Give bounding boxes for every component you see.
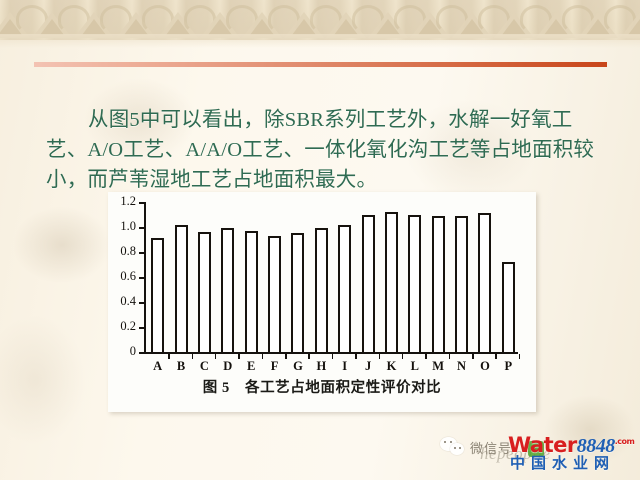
x-axis-tick — [285, 354, 287, 359]
x-axis-label: G — [293, 359, 303, 374]
band-fade — [0, 34, 640, 48]
x-axis-tick — [425, 354, 427, 359]
watermark-brand-cn: 中国水业网 — [510, 452, 615, 473]
x-axis-tick — [168, 354, 170, 359]
x-axis-label: H — [316, 359, 326, 374]
chart-bar — [151, 238, 164, 352]
x-axis-tick — [308, 354, 310, 359]
x-axis-label: N — [457, 359, 466, 374]
x-axis-label: K — [387, 359, 397, 374]
y-axis-label: 1.0 — [120, 219, 136, 234]
figure-caption: 图 5 各工艺占地面积定性评价对比 — [108, 376, 536, 397]
x-axis-label: F — [271, 359, 279, 374]
y-axis-tick — [139, 302, 145, 304]
y-axis-tick — [139, 352, 145, 354]
x-axis-tick — [472, 354, 474, 359]
accent-divider-rule — [34, 62, 607, 67]
chart-bar — [362, 215, 375, 353]
x-axis-label: C — [200, 359, 209, 374]
chart-bar — [432, 216, 445, 352]
y-axis-label: 0.6 — [120, 269, 136, 284]
chart-bar — [478, 213, 491, 352]
x-axis-label: I — [342, 359, 347, 374]
chart-bar — [408, 215, 421, 353]
y-axis-label: 0.8 — [120, 244, 136, 259]
x-axis-label: A — [153, 359, 162, 374]
chart-bar — [385, 212, 398, 352]
x-axis-label: M — [432, 359, 444, 374]
chart-plot-area: 1.21.00.80.60.40.20ABCDEFGHIJKLMNOP — [144, 202, 518, 354]
y-axis-label: 0.4 — [120, 294, 136, 309]
brand-domain: .com — [615, 437, 635, 446]
y-axis-label: 0 — [130, 344, 136, 359]
slide-canvas: 从图5中可以看出，除SBR系列工艺外，水解一好氧工艺、A/O工艺、A/A/O工艺… — [0, 0, 640, 480]
x-axis-label: O — [480, 359, 490, 374]
y-axis-label: 0.2 — [120, 319, 136, 334]
x-axis-label: J — [365, 359, 371, 374]
x-axis-tick — [192, 354, 194, 359]
x-axis-tick — [449, 354, 451, 359]
triangle-pattern — [0, 4, 640, 38]
y-axis-label: 1.2 — [120, 194, 136, 209]
x-axis-label: D — [223, 359, 232, 374]
chart-bar — [291, 233, 304, 352]
wechat-icon — [440, 437, 466, 457]
chart-bar — [455, 216, 468, 352]
x-axis-tick — [519, 354, 521, 359]
chart-bar — [268, 236, 281, 352]
x-axis-label: B — [177, 359, 185, 374]
y-axis-tick — [139, 277, 145, 279]
x-axis-tick — [215, 354, 217, 359]
x-axis-tick — [495, 354, 497, 359]
x-axis-label: L — [411, 359, 419, 374]
x-axis-tick — [379, 354, 381, 359]
chart-bar — [502, 262, 515, 352]
x-axis-tick — [332, 354, 334, 359]
chart-bar — [338, 225, 351, 353]
x-axis-tick — [355, 354, 357, 359]
chart-bar — [221, 228, 234, 352]
y-axis-tick — [139, 202, 145, 204]
y-axis-tick — [139, 227, 145, 229]
y-axis-tick — [139, 327, 145, 329]
y-axis-tick — [139, 252, 145, 254]
chart-bar — [175, 225, 188, 353]
x-axis-label: P — [504, 359, 512, 374]
x-axis-tick — [402, 354, 404, 359]
chart-bar — [245, 231, 258, 352]
x-axis-tick — [262, 354, 264, 359]
watermark: 微信号 hepeoplle Water8848.com 中国水业网 — [432, 432, 640, 472]
body-paragraph: 从图5中可以看出，除SBR系列工艺外，水解一好氧工艺、A/O工艺、A/A/O工艺… — [46, 105, 602, 195]
x-axis-label: E — [247, 359, 255, 374]
chart-bar — [198, 232, 211, 352]
x-axis-tick — [238, 354, 240, 359]
chart-bar — [315, 228, 328, 352]
figure-panel: 1.21.00.80.60.40.20ABCDEFGHIJKLMNOP 图 5 … — [108, 192, 536, 412]
